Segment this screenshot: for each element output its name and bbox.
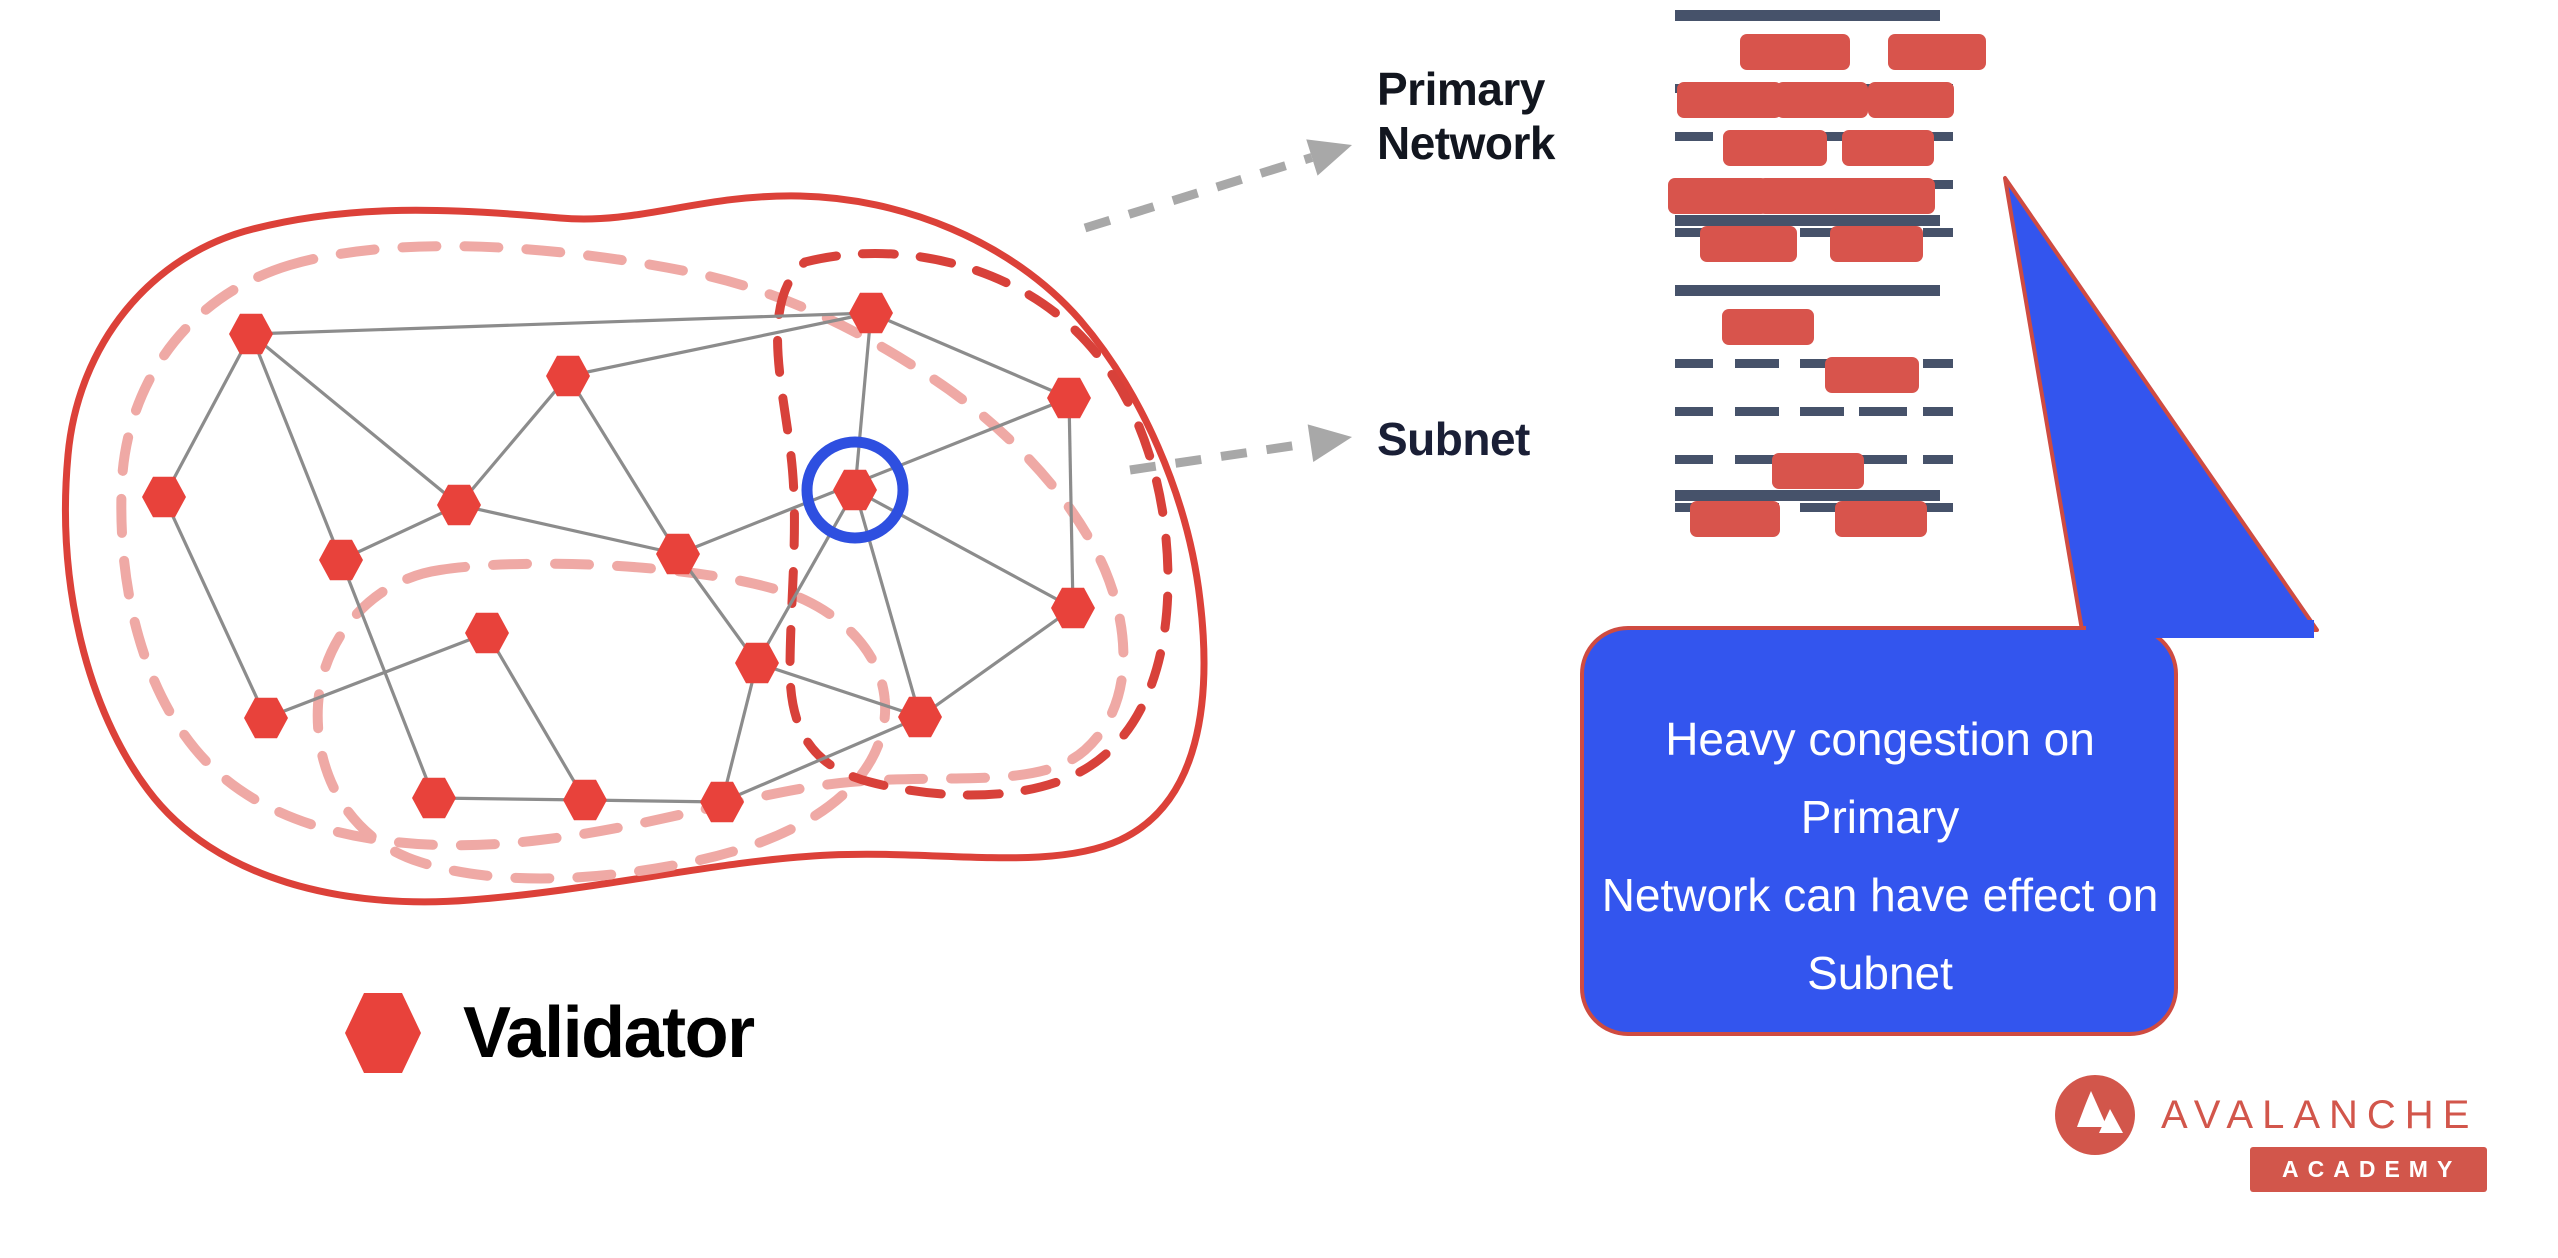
avalanche-mark-icon bbox=[2055, 1075, 2135, 1155]
brand-logo: AVALANCHE bbox=[2055, 1075, 2478, 1155]
brand-wordmark: AVALANCHE bbox=[2161, 1093, 2478, 1138]
callout-line-3: Subnet bbox=[1600, 934, 2160, 1012]
callout-line-1: Heavy congestion on Primary bbox=[1600, 700, 2160, 856]
hexagon-icon bbox=[345, 990, 421, 1076]
callout-bubble-text: Heavy congestion on Primary Network can … bbox=[1600, 700, 2160, 1012]
legend: Validator bbox=[345, 990, 754, 1076]
callout-bubble-tail bbox=[2005, 178, 2317, 630]
callout-line-2: Network can have effect on bbox=[1600, 856, 2160, 934]
brand-academy-badge: ACADEMY bbox=[2250, 1147, 2487, 1192]
callout-bubble-tail-seam bbox=[2086, 620, 2314, 638]
diagram-canvas: Primary Network Subnet Heavy congestion … bbox=[0, 0, 2558, 1258]
legend-label: Validator bbox=[463, 992, 754, 1074]
